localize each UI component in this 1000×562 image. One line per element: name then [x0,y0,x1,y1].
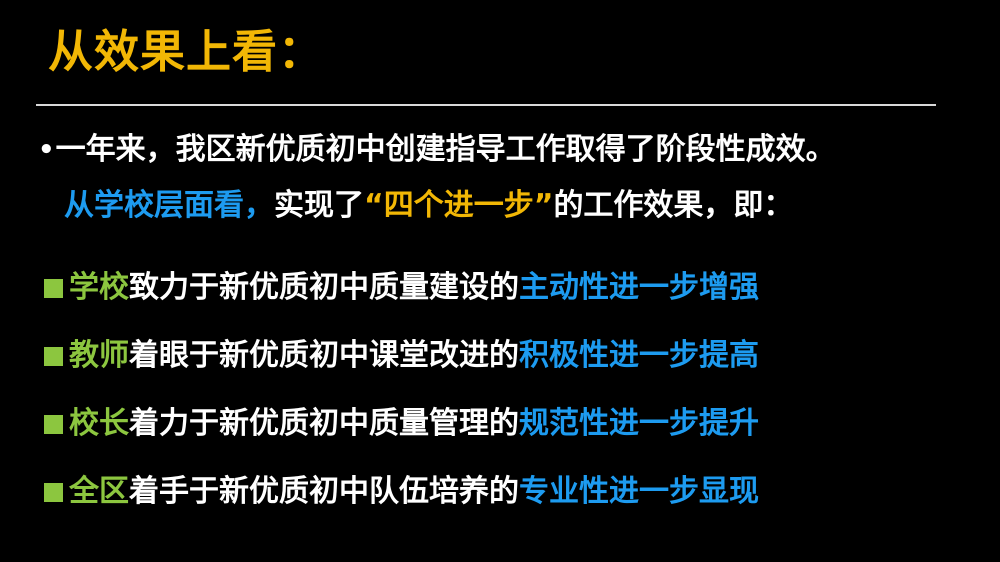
intro-line-2-part-four-steps: “四个进一步” [364,188,553,223]
square-bullet-icon [44,483,63,502]
intro-line-1: •一年来，我区新优质初中创建指导工作取得了阶段性成效。 [38,129,968,172]
intro-line-2-part-effect: 的工作效果，即： [553,188,793,223]
intro-line-2-part-achieved: 实现了 [274,188,364,223]
list-item-highlight: 主动性进一步增强 [519,270,759,305]
intro-line-2: 从学校层面看，实现了“四个进一步”的工作效果，即： [38,185,968,228]
list-item-text: 学校致力于新优质初中质量建设的主动性进一步增强 [69,271,759,304]
list-item: 学校致力于新优质初中质量建设的主动性进一步增强 [44,253,974,321]
list-item-middle: 致力于新优质初中质量建设的 [129,270,519,305]
intro-line-2-part-school-level: 从学校层面看， [64,188,274,223]
list-item-subject: 学校 [69,270,129,305]
intro-paragraph: •一年来，我区新优质初中创建指导工作取得了阶段性成效。 从学校层面看，实现了“四… [38,129,968,227]
list-item-highlight: 规范性进一步提升 [519,406,759,441]
dot-bullet-icon: • [38,132,55,169]
list-item-subject: 教师 [69,338,129,373]
list-item-text: 校长着力于新优质初中质量管理的规范性进一步提升 [69,407,759,440]
list-item-highlight: 积极性进一步提高 [519,338,759,373]
intro-line-1-text: 一年来，我区新优质初中创建指导工作取得了阶段性成效。 [56,132,836,167]
square-bullet-icon [44,415,63,434]
square-bullet-icon [44,279,63,298]
bullet-list: 学校致力于新优质初中质量建设的主动性进一步增强 教师着眼于新优质初中课堂改进的积… [44,253,974,525]
list-item-text: 全区着手于新优质初中队伍培养的专业性进一步显现 [69,475,759,508]
title-divider [36,104,936,106]
list-item: 教师着眼于新优质初中课堂改进的积极性进一步提高 [44,321,974,389]
list-item-subject: 校长 [69,406,129,441]
square-bullet-icon [44,347,63,366]
list-item-subject: 全区 [69,474,129,509]
list-item-middle: 着手于新优质初中队伍培养的 [129,474,519,509]
list-item-middle: 着力于新优质初中质量管理的 [129,406,519,441]
list-item-highlight: 专业性进一步显现 [519,474,759,509]
presentation-slide: 从效果上看： •一年来，我区新优质初中创建指导工作取得了阶段性成效。 从学校层面… [0,0,1000,562]
list-item: 全区着手于新优质初中队伍培养的专业性进一步显现 [44,457,974,525]
list-item: 校长着力于新优质初中质量管理的规范性进一步提升 [44,389,974,457]
list-item-middle: 着眼于新优质初中课堂改进的 [129,338,519,373]
page-title: 从效果上看： [48,26,324,78]
list-item-text: 教师着眼于新优质初中课堂改进的积极性进一步提高 [69,339,759,372]
